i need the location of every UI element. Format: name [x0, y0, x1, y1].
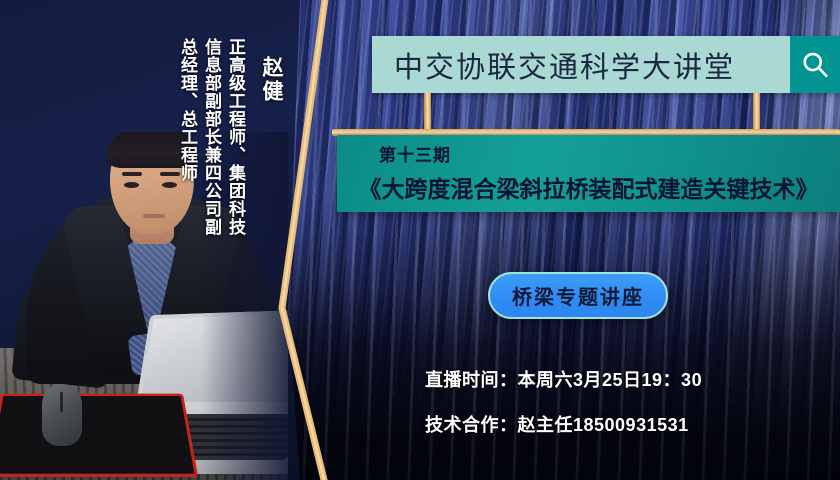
subject-title: 《大跨度混合梁斜拉桥装配式建造关键技术》 — [337, 170, 840, 204]
speaker-brow-left — [122, 172, 142, 176]
search-icon[interactable] — [790, 36, 840, 93]
speaker-mouth — [143, 214, 165, 218]
mouse-pad — [0, 394, 198, 477]
speaker-eye-left — [124, 182, 139, 188]
issue-number: 第十三期 — [379, 141, 840, 166]
computer-mouse — [42, 384, 82, 446]
speaker-hair — [106, 132, 198, 168]
broadcast-time: 直播时间：本周六3月25日19：30 — [425, 366, 702, 392]
category-button-label: 桥梁专题讲座 — [512, 281, 644, 310]
live-stream-poster: 赵健 正高级工程师、集团科技 信息部副部长兼四公司副 总经理、总工程师 中交协联… — [0, 0, 840, 480]
brand-title: 中交协联交通科学大讲堂 — [372, 36, 790, 93]
category-button[interactable]: 桥梁专题讲座 — [488, 272, 668, 319]
contact-info: 技术合作：赵主任18500931531 — [425, 411, 689, 437]
speaker-brow-right — [160, 172, 180, 176]
speaker-photo — [0, 132, 288, 480]
brand-header-bar: 中交协联交通科学大讲堂 — [372, 36, 840, 93]
subject-panel: 第十三期 《大跨度混合梁斜拉桥装配式建造关键技术》 — [337, 135, 840, 212]
speaker-eye-right — [162, 182, 177, 188]
